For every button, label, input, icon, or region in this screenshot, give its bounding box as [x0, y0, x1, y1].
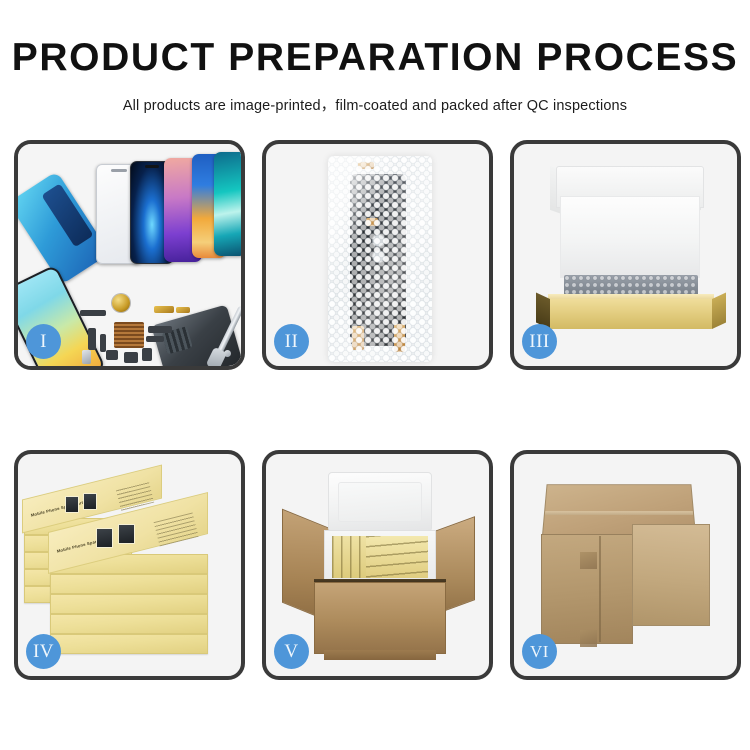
flex-cable-part-a	[88, 328, 96, 350]
page-title: PRODUCT PREPARATION PROCESS	[0, 38, 750, 77]
carton-bottom-edge	[324, 650, 436, 660]
retail-box-thumb-front-b	[118, 524, 135, 544]
retail-box-thumb-rear-b	[83, 493, 97, 510]
step-badge-6: VI	[522, 634, 557, 669]
sim-tray-part	[82, 350, 91, 364]
retail-box-thumb-front-a	[96, 528, 113, 548]
retail-box-front-5	[50, 634, 208, 654]
carton-front-face	[314, 582, 446, 654]
step-panel-6[interactable]: VI	[510, 450, 741, 680]
step-panel-2[interactable]: II	[262, 140, 493, 370]
step-badge-3: III	[522, 324, 557, 359]
gold-connector-part	[154, 306, 174, 313]
white-foam-sheet	[560, 196, 700, 278]
page-subtitle: All products are image-printed，film-coat…	[0, 94, 750, 115]
camera-module-part	[106, 350, 118, 360]
step-badge-4: IV	[26, 634, 61, 669]
step-panel-3[interactable]: III	[510, 140, 741, 370]
kraft-box-front	[548, 299, 714, 329]
vibration-motor-part	[112, 294, 130, 312]
step-panel-1[interactable]: I	[14, 140, 245, 370]
process-steps-grid: I II	[14, 140, 741, 680]
step-badge-5: V	[274, 634, 309, 669]
retail-box-front-2	[50, 574, 208, 594]
page-header: PRODUCT PREPARATION PROCESS All products…	[0, 0, 750, 115]
carton-left-face	[541, 534, 633, 644]
gold-contact-part	[176, 307, 190, 313]
flex-cable-part-d	[146, 336, 164, 342]
carton-tape-upper	[580, 552, 597, 569]
styrofoam-lid	[328, 472, 432, 532]
step-badge-2: II	[274, 324, 309, 359]
chip-grid-part	[114, 322, 144, 348]
step-panel-5[interactable]: V	[262, 450, 493, 680]
flex-cable-part-c	[148, 326, 172, 333]
phone-teal-waves	[214, 152, 241, 256]
flex-cable-part-b	[100, 334, 106, 352]
step-panel-4[interactable]: Mobile Phone Spare Parts Mobile Phone Sp…	[14, 450, 245, 680]
retail-box-front-4	[50, 614, 208, 634]
carton-vertical-seam	[599, 536, 601, 642]
carton-tape-lower	[580, 630, 597, 647]
speaker-part	[80, 310, 106, 316]
plastic-sheen	[328, 156, 432, 362]
retail-box-front-3	[50, 594, 208, 614]
step-badge-1: I	[26, 324, 61, 359]
button-part	[124, 352, 138, 363]
sensor-part	[142, 348, 152, 361]
bubble-wrap-bag	[328, 156, 432, 362]
carton-right-face	[632, 524, 710, 626]
retail-box-thumb-rear-a	[65, 496, 79, 513]
yellow-boxes-inside	[332, 536, 428, 578]
